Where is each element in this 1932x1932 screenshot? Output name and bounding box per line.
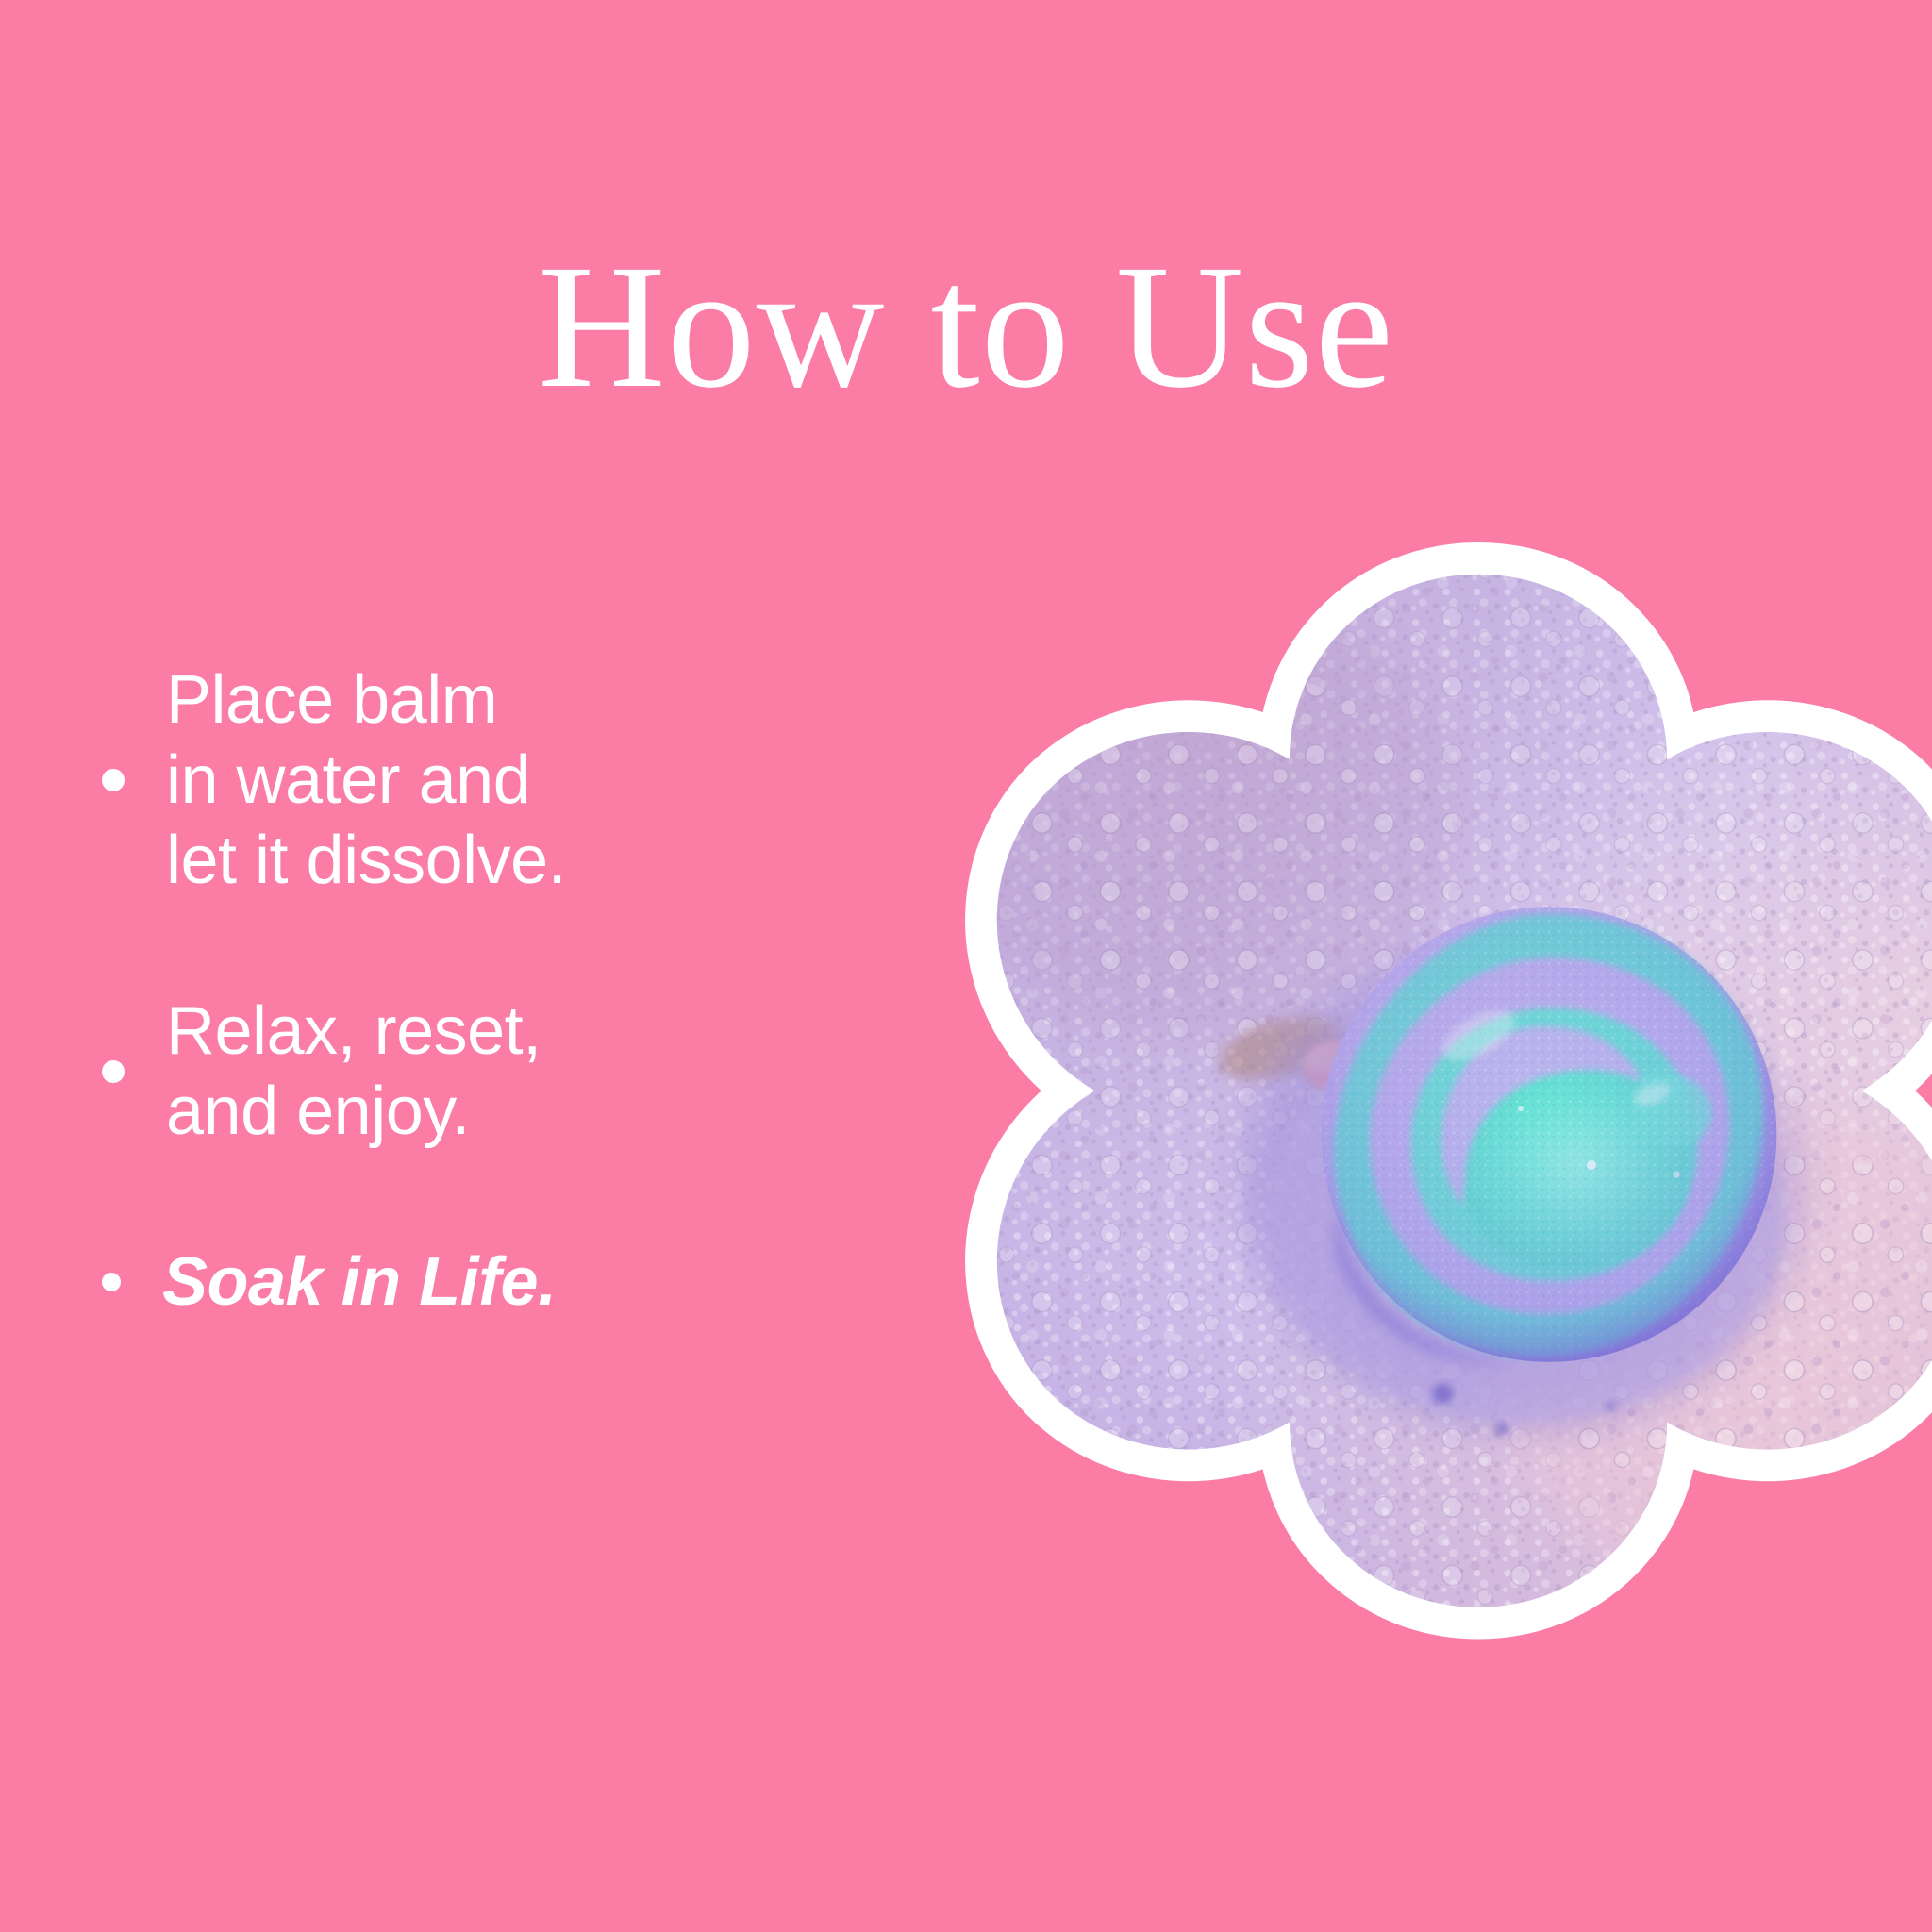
instructions-list: Place balm in water and let it dissolve.… [102, 660, 800, 1323]
list-item: Place balm in water and let it dissolve. [102, 660, 800, 901]
instruction-text-emphasis: Soak in Life. [162, 1242, 557, 1323]
product-image-frame [889, 462, 1932, 1641]
instruction-text: Place balm in water and let it dissolve. [166, 660, 566, 901]
bullet-dot-icon [102, 1060, 125, 1083]
list-item: Relax, reset, and enjoy. [102, 991, 800, 1152]
list-item: Soak in Life. [102, 1242, 800, 1323]
page-title: How to Use [0, 238, 1932, 415]
bullet-dot-icon [102, 1273, 121, 1291]
instruction-text: Relax, reset, and enjoy. [166, 991, 541, 1152]
flower-photo-svg [889, 462, 1932, 1641]
bullet-dot-icon [102, 769, 125, 791]
